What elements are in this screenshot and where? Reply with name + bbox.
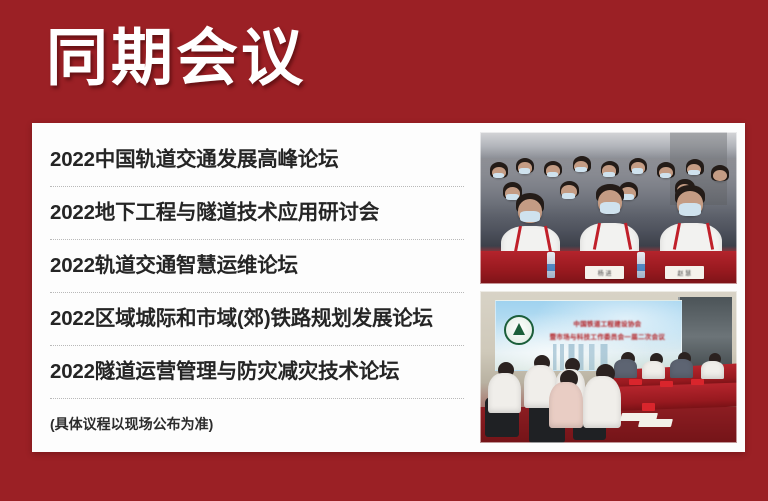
banner-line-1: 中国铁道工程建设协会 bbox=[545, 320, 671, 329]
name-card-text: 杨 进 bbox=[585, 268, 624, 277]
association-logo-icon bbox=[504, 315, 534, 345]
content-card: 2022中国轨道交通发展高峰论坛 2022地下工程与隧道技术应用研讨会 2022… bbox=[32, 123, 745, 452]
list-item[interactable]: 2022区域城际和市域(郊)铁路规划发展论坛 bbox=[50, 293, 464, 346]
crowd-mask bbox=[562, 193, 575, 199]
photo-column: 杨 进 赵 慧 中国铁道工程建设协会 暨市 bbox=[480, 123, 745, 452]
agenda-list: 2022中国轨道交通发展高峰论坛 2022地下工程与隧道技术应用研讨会 2022… bbox=[50, 134, 464, 399]
crowd-mask bbox=[688, 170, 700, 175]
table-name-card bbox=[642, 403, 655, 411]
water-bottle bbox=[547, 252, 555, 278]
name-card-text: 赵 慧 bbox=[665, 268, 704, 277]
crowd-mask bbox=[660, 173, 672, 178]
agenda-list-column: 2022中国轨道交通发展高峰论坛 2022地下工程与隧道技术应用研讨会 2022… bbox=[32, 123, 480, 452]
list-item[interactable]: 2022地下工程与隧道技术应用研讨会 bbox=[50, 187, 464, 240]
attendee-body bbox=[701, 361, 724, 379]
attendee-body bbox=[583, 376, 622, 428]
name-card: 赵 慧 bbox=[665, 266, 704, 280]
crowd-mask bbox=[519, 168, 531, 173]
list-item[interactable]: 2022隧道运营管理与防灾减灾技术论坛 bbox=[50, 346, 464, 399]
conference-audience-photo: 杨 进 赵 慧 bbox=[480, 132, 737, 284]
agenda-footnote: (具体议程以现场公布为准) bbox=[50, 414, 464, 434]
agenda-item-label: 2022轨道交通智慧运维论坛 bbox=[50, 253, 298, 279]
crowd-mask bbox=[632, 168, 644, 173]
table-name-card bbox=[660, 381, 673, 387]
attendee-body bbox=[614, 359, 637, 377]
name-card: 杨 进 bbox=[585, 266, 624, 280]
crowd-mask bbox=[493, 173, 505, 178]
banner-line-2: 暨市场与科技工作委员会一届二次会议 bbox=[545, 333, 671, 342]
agenda-item-label: 2022区域城际和市域(郊)铁路规划发展论坛 bbox=[50, 306, 433, 332]
agenda-item-label: 2022隧道运营管理与防灾减灾技术论坛 bbox=[50, 359, 399, 385]
table-name-card bbox=[691, 379, 704, 385]
page-title: 同期会议 bbox=[46, 22, 306, 96]
attendee-body bbox=[670, 359, 693, 377]
crowd-mask bbox=[547, 172, 559, 177]
documents bbox=[638, 419, 673, 427]
attendee-body bbox=[488, 373, 521, 413]
agenda-item-label: 2022地下工程与隧道技术应用研讨会 bbox=[50, 200, 379, 226]
attendee-body bbox=[642, 361, 665, 379]
crowd-mask bbox=[603, 172, 615, 177]
meeting-room-photo: 中国铁道工程建设协会 暨市场与科技工作委员会一届二次会议 bbox=[480, 291, 737, 443]
agenda-item-label: 2022中国轨道交通发展高峰论坛 bbox=[50, 147, 338, 173]
crowd-head bbox=[713, 170, 727, 181]
table-name-card bbox=[629, 379, 642, 385]
list-item[interactable]: 2022中国轨道交通发展高峰论坛 bbox=[50, 134, 464, 187]
attendee-body bbox=[549, 382, 582, 428]
water-bottle bbox=[637, 252, 645, 278]
list-item[interactable]: 2022轨道交通智慧运维论坛 bbox=[50, 240, 464, 293]
front-attendee-mask bbox=[600, 202, 621, 214]
crowd-mask bbox=[575, 167, 587, 172]
front-attendee-mask bbox=[520, 211, 541, 222]
slide-root: 同期会议 2022中国轨道交通发展高峰论坛 2022地下工程与隧道技术应用研讨会… bbox=[0, 0, 768, 501]
front-attendee-mask bbox=[679, 203, 701, 215]
